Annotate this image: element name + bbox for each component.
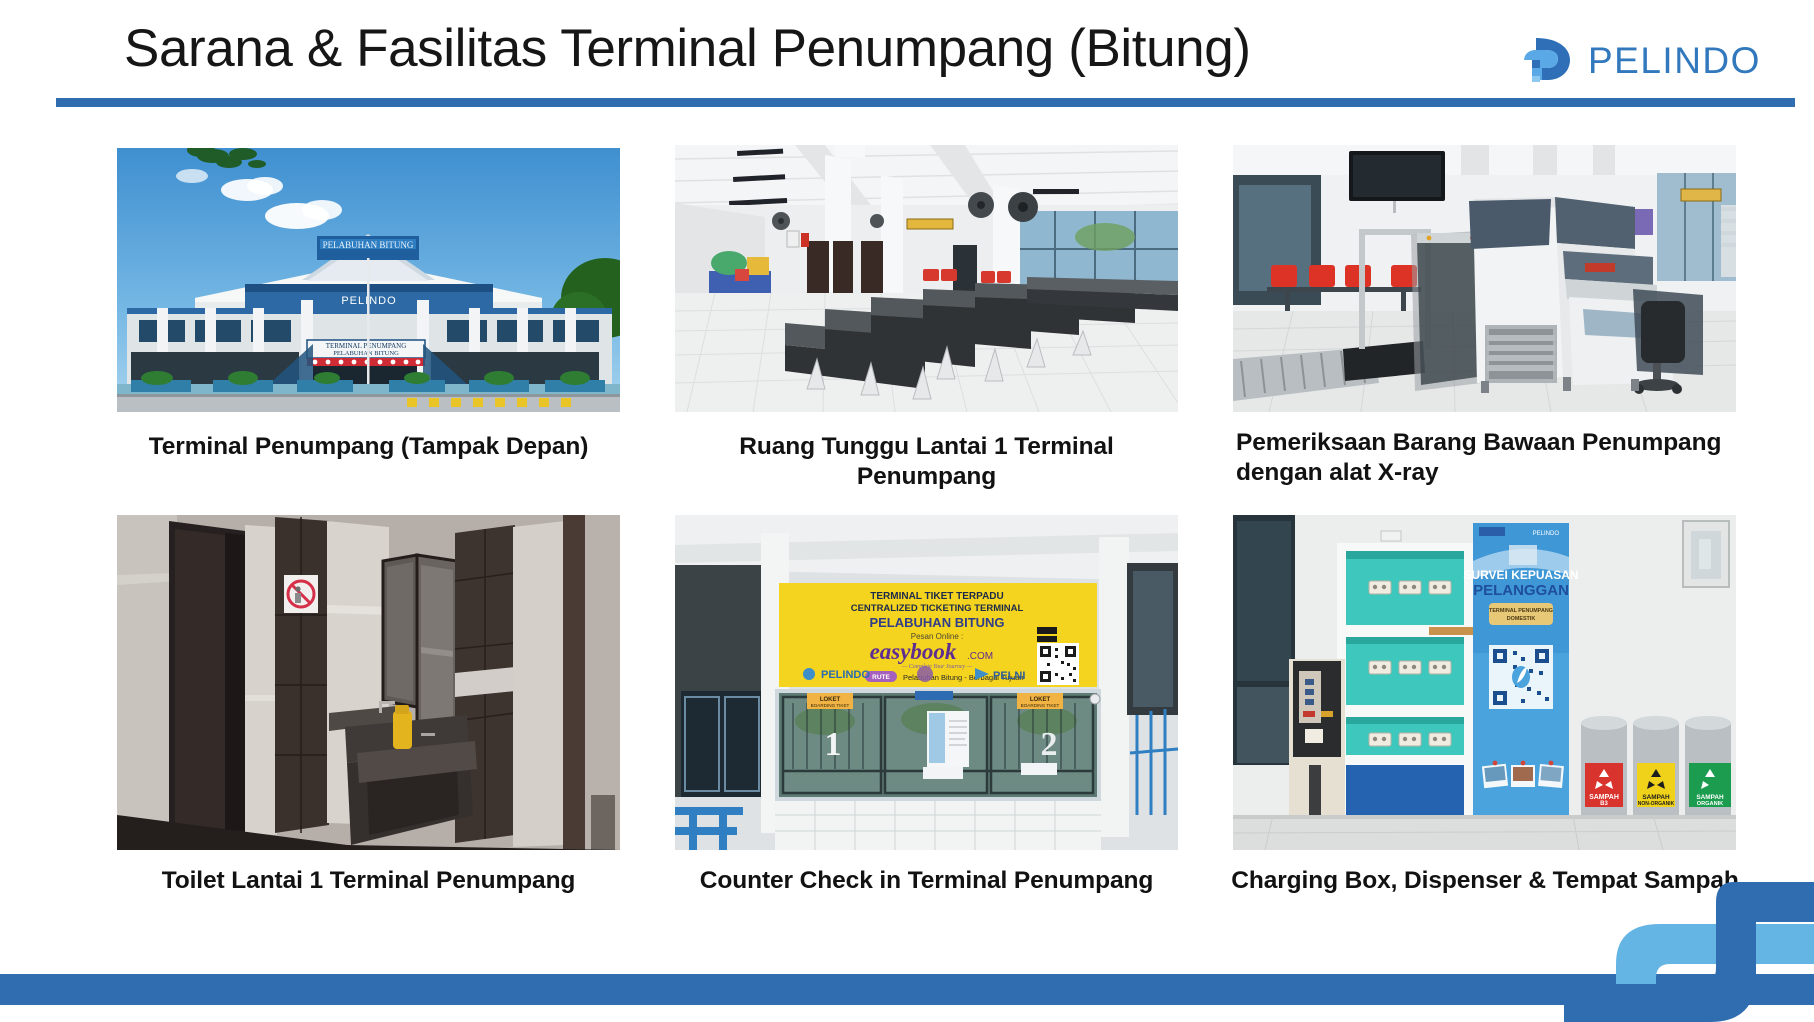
- gallery-item-waiting-room[interactable]: [675, 145, 1178, 412]
- svg-text:TERMINAL PENUMPANG: TERMINAL PENUMPANG: [326, 342, 407, 350]
- svg-text:PELABUHAN BITUNG: PELABUHAN BITUNG: [333, 350, 399, 357]
- gallery-item-counter-check-in[interactable]: TERMINAL TIKET TERPADU CENTRALIZED TICKE…: [675, 515, 1178, 850]
- photo-terminal-front: PELABUHAN BITUNG PELINDO: [117, 148, 620, 412]
- svg-text:TERMINAL TIKET TERPADU: TERMINAL TIKET TERPADU: [870, 591, 1004, 602]
- svg-text:PELINDO: PELINDO: [1588, 40, 1761, 81]
- photo-counter-check-in: TERMINAL TIKET TERPADU CENTRALIZED TICKE…: [675, 515, 1178, 850]
- svg-text:— Complete Your Journey —: — Complete Your Journey —: [901, 664, 973, 670]
- svg-text:PELINDO: PELINDO: [821, 669, 870, 681]
- gallery-caption-toilet: Toilet Lantai 1 Terminal Penumpang: [117, 866, 620, 896]
- svg-text:SAMPAH: SAMPAH: [1696, 794, 1724, 801]
- svg-text:easybook: easybook: [870, 639, 957, 664]
- photo-xray-check: [1233, 145, 1736, 412]
- svg-text:PELABUHAN BITUNG: PELABUHAN BITUNG: [869, 615, 1004, 630]
- slide: Sarana & Fasilitas Terminal Penumpang (B…: [0, 0, 1814, 1022]
- pelindo-corner-mark-icon: [1564, 872, 1814, 1022]
- photo-charging-box: PELINDO SURVEI KEPUASAN PELANGGAN TERMIN…: [1233, 515, 1736, 850]
- svg-text:PELANGGAN: PELANGGAN: [1473, 582, 1569, 599]
- gallery-item-charging-box[interactable]: PELINDO SURVEI KEPUASAN PELANGGAN TERMIN…: [1233, 515, 1736, 850]
- svg-text:.COM: .COM: [967, 651, 993, 662]
- svg-text:BOARDING TIKET: BOARDING TIKET: [1021, 703, 1060, 708]
- gallery-caption-xray-check: Pemeriksaan Barang Bawaan Penumpang deng…: [1236, 428, 1756, 488]
- gallery-item-terminal-front[interactable]: PELABUHAN BITUNG PELINDO: [117, 148, 620, 412]
- svg-text:PELNI: PELNI: [993, 670, 1025, 682]
- svg-text:1: 1: [825, 726, 842, 763]
- svg-text:BOARDING TIKET: BOARDING TIKET: [811, 703, 850, 708]
- svg-text:SURVEI KEPUASAN: SURVEI KEPUASAN: [1463, 568, 1578, 582]
- svg-text:SAMPAH: SAMPAH: [1642, 794, 1670, 801]
- svg-text:RUTE: RUTE: [872, 674, 890, 681]
- gallery-caption-terminal-front: Terminal Penumpang (Tampak Depan): [117, 432, 620, 462]
- svg-text:TERMINAL PENUMPANG: TERMINAL PENUMPANG: [1489, 608, 1553, 614]
- header-divider: [56, 98, 1795, 107]
- svg-text:2: 2: [1041, 726, 1058, 763]
- svg-text:PELINDO: PELINDO: [1533, 531, 1560, 537]
- svg-text:ORGANIK: ORGANIK: [1697, 801, 1723, 807]
- gallery-item-xray-check[interactable]: [1233, 145, 1736, 412]
- gallery-item-toilet[interactable]: [117, 515, 620, 850]
- footer-bar: [0, 974, 1814, 1005]
- page-title: Sarana & Fasilitas Terminal Penumpang (B…: [124, 18, 1251, 80]
- gallery-caption-counter-check-in: Counter Check in Terminal Penumpang: [675, 866, 1178, 896]
- xray-caption-line-1: Pemeriksaan Barang Bawaan Penumpang: [1236, 429, 1721, 456]
- svg-text:PELABUHAN BITUNG: PELABUHAN BITUNG: [323, 240, 414, 250]
- photo-waiting-room: [675, 145, 1178, 412]
- svg-text:B3: B3: [1600, 801, 1608, 807]
- svg-text:NON-ORGANIK: NON-ORGANIK: [1638, 801, 1675, 807]
- xray-caption-line-2: dengan alat X-ray: [1236, 459, 1439, 486]
- pelindo-logo: PELINDO: [1518, 30, 1786, 88]
- svg-text:DOMESTIK: DOMESTIK: [1507, 616, 1536, 622]
- gallery-caption-waiting-room: Ruang Tunggu Lantai 1 Terminal Penumpang: [675, 432, 1178, 492]
- svg-text:SAMPAH: SAMPAH: [1589, 794, 1619, 801]
- svg-text:CENTRALIZED TICKETING TERMINAL: CENTRALIZED TICKETING TERMINAL: [851, 603, 1024, 614]
- photo-toilet: [117, 515, 620, 850]
